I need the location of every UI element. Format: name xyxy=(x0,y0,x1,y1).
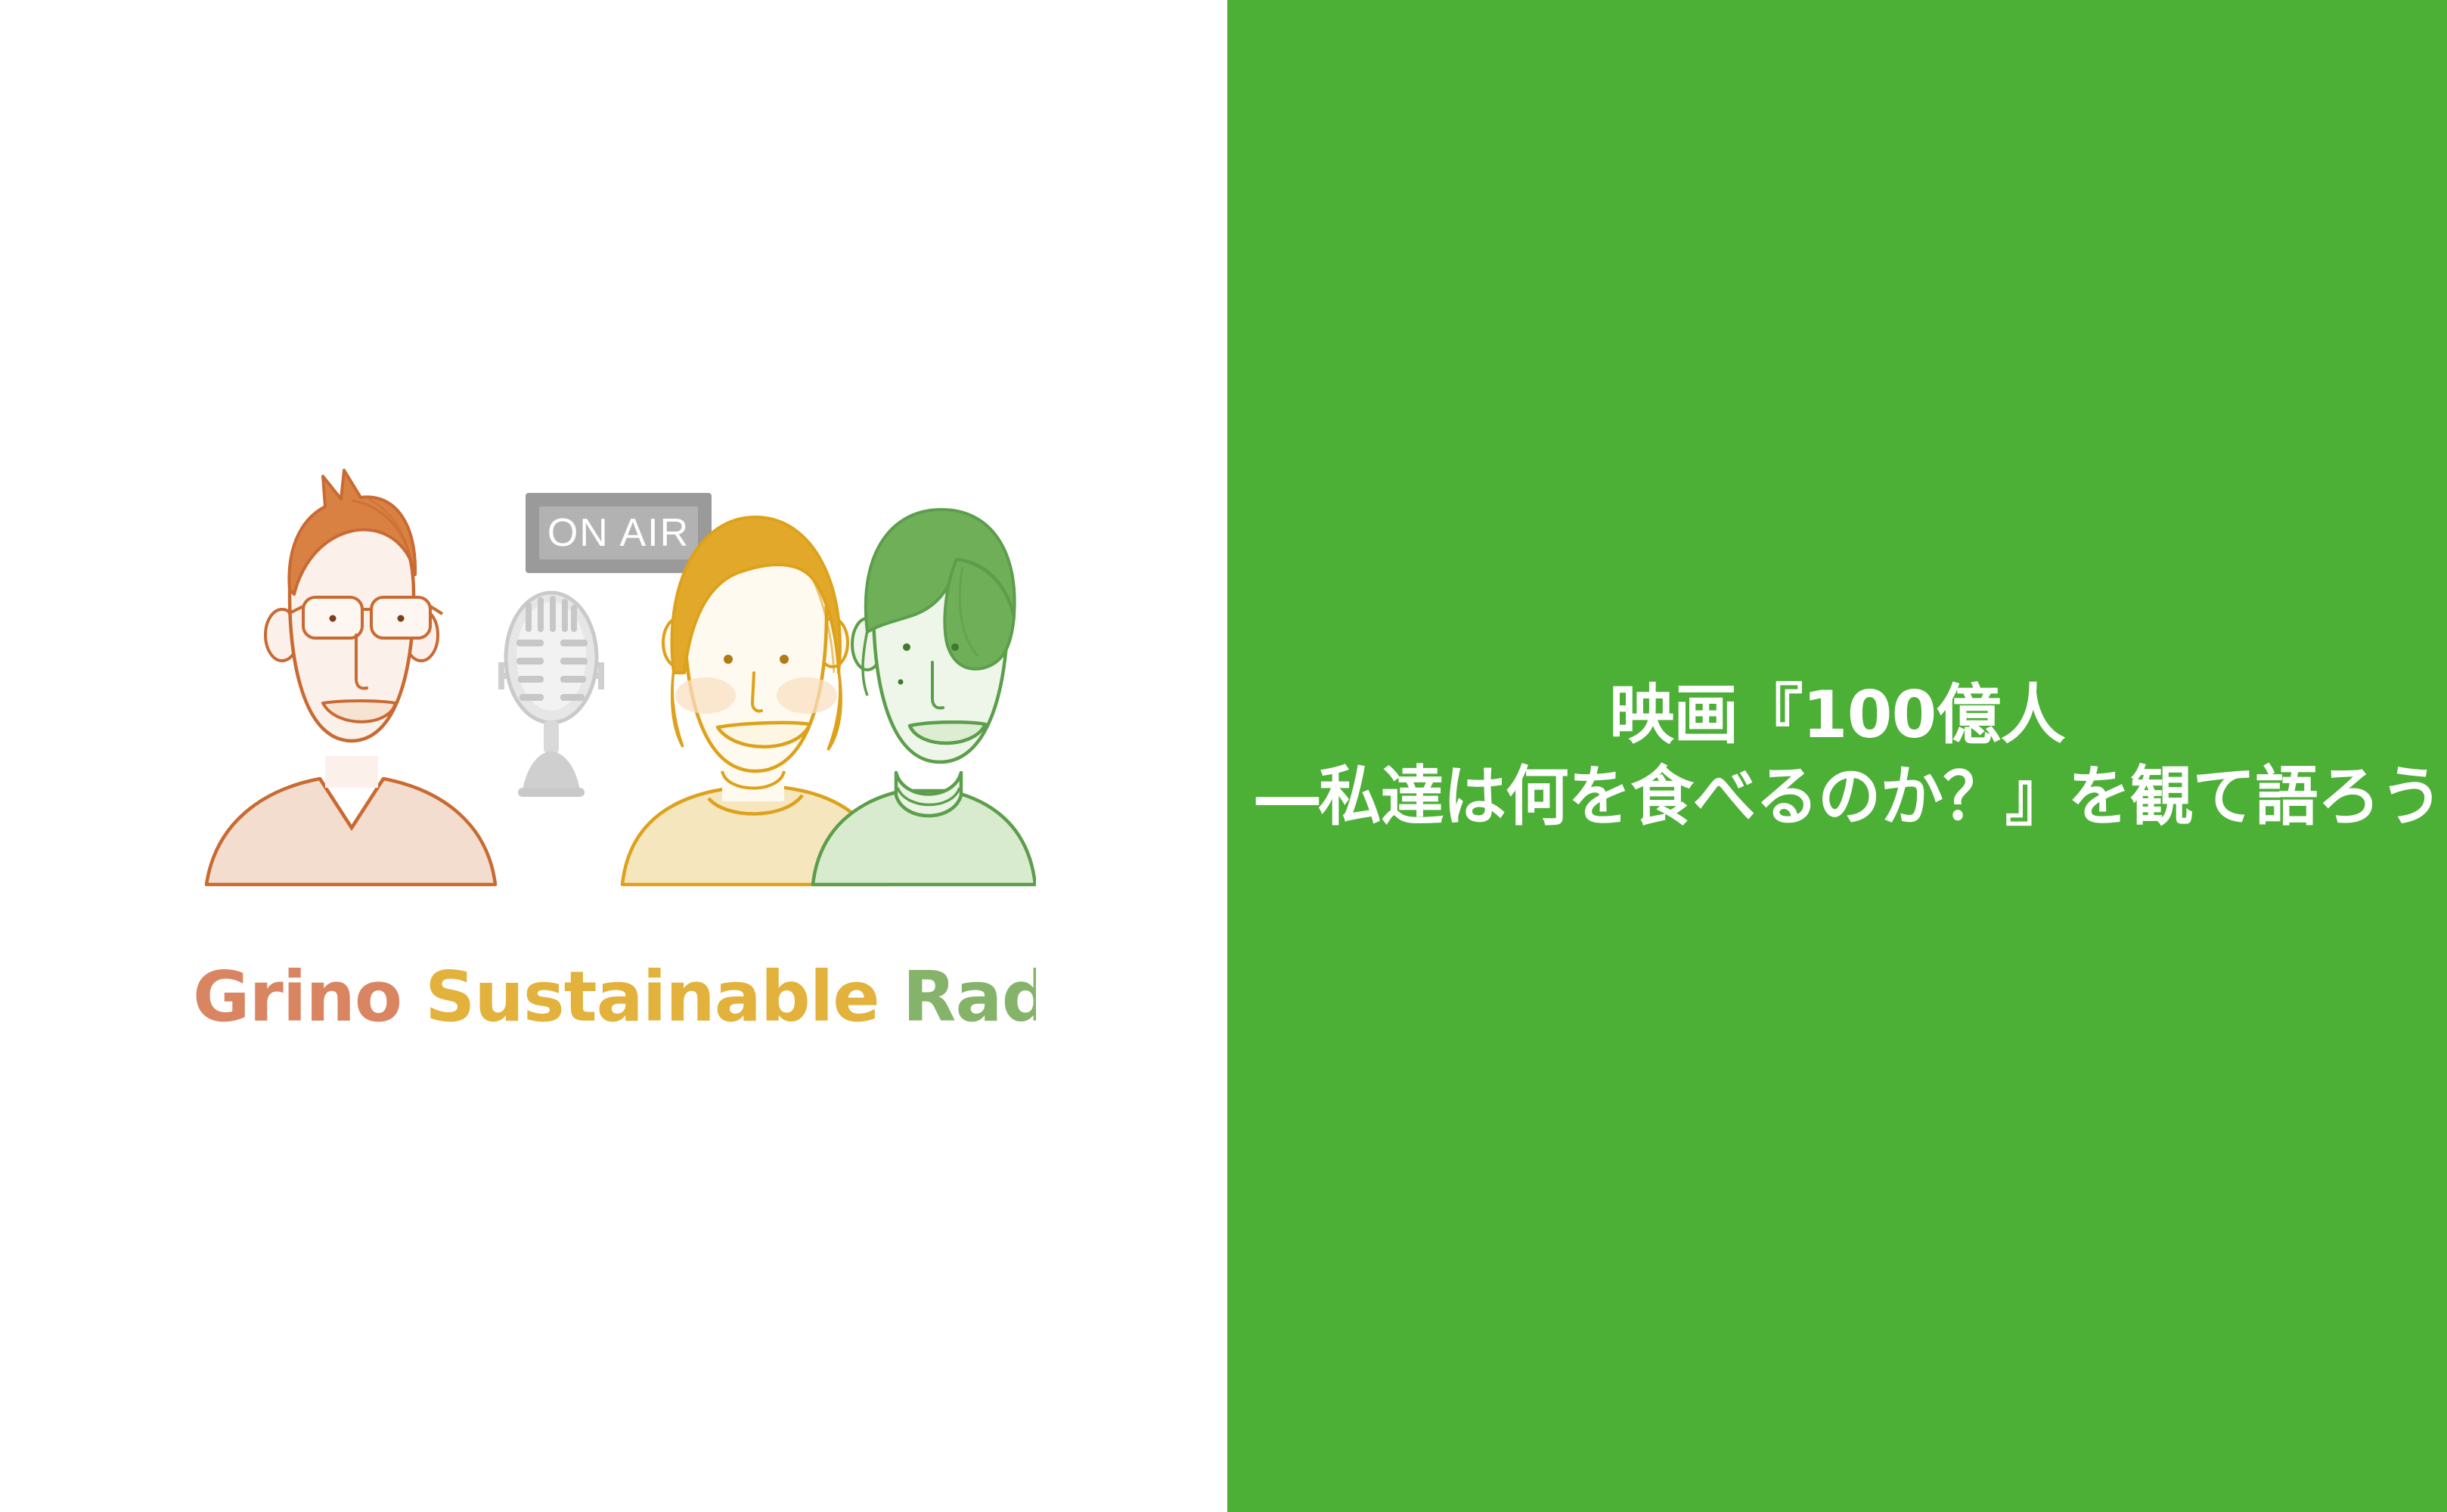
episode-title: 映画『100億人 ―私達は何を食べるのか？』を観て語ろう xyxy=(1227,674,2447,838)
logo-illustration: ON AIR xyxy=(193,446,1036,1043)
vintage-microphone-icon xyxy=(498,593,604,797)
grino-sustainable-radio-logo: ON AIR xyxy=(193,446,1036,1043)
episode-title-line-2: ―私達は何を食べるのか？』を観て語ろう xyxy=(1256,756,2418,838)
svg-text:Grino Sustainable Radio: Grino Sustainable Radio xyxy=(193,956,1036,1037)
wordmark-grino: Grino xyxy=(193,956,402,1037)
svg-text:ON AIR: ON AIR xyxy=(547,511,690,555)
on-air-sign-icon: ON AIR xyxy=(526,493,712,573)
host-left-with-glasses-illustration xyxy=(206,470,495,885)
logo-panel: ON AIR xyxy=(0,0,1227,1512)
grino-sustainable-radio-wordmark: Grino Sustainable Radio xyxy=(193,956,1036,1037)
podcast-episode-thumbnail: ON AIR xyxy=(0,0,2447,1512)
episode-title-line-1: 映画『100億人 xyxy=(1238,674,2436,756)
host-right-turtleneck-illustration xyxy=(813,510,1035,885)
title-panel: 映画『100億人 ―私達は何を食べるのか？』を観て語ろう xyxy=(1227,0,2447,1512)
